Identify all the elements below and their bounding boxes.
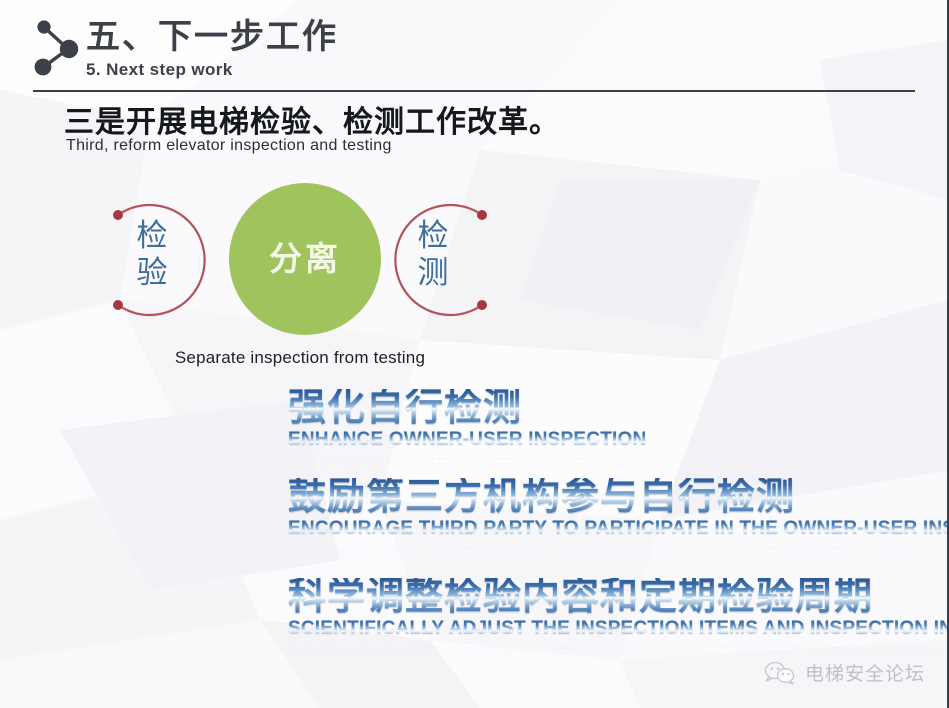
diagram-label-left: 检验 [122,217,182,291]
watermark-text: 电梯安全论坛 [805,659,925,686]
point-3: 科学调整检验内容和定期检验周期 SCIENTIFICALLY ADJUST TH… [288,578,949,663]
point-1: 强化自行检测 ENHANCE OWNER-USER INSPECTION ENH… [288,389,646,474]
header-title-cn: 五、下一步工作 [86,17,338,57]
header-divider-rule [33,90,915,92]
point-3-cn: 科学调整检验内容和定期检验周期 [288,578,949,616]
point-2-reflection: ENCOURAGE THIRD PARTY TO PARTICIPATE IN … [288,541,949,563]
diagram-label-center: 分离 [269,241,341,277]
point-1-cn: 强化自行检测 [288,389,646,427]
header-title-en: 5. Next step work [86,60,233,80]
separation-diagram: 检验 分离 检测 Separate inspection from testin… [95,180,505,380]
point-2-en: ENCOURAGE THIRD PARTY TO PARTICIPATE IN … [288,518,949,540]
point-2-cn: 鼓励第三方机构参与自行检测 [288,478,949,516]
network-node-icon [26,16,88,78]
section-heading-en: Third, reform elevator inspection and te… [66,137,392,155]
diagram-caption: Separate inspection from testing [95,348,505,368]
point-3-en: SCIENTIFICALLY ADJUST THE INSPECTION ITE… [288,618,949,640]
slide-canvas: 五、下一步工作 5. Next step work 三是开展电梯检验、检测工作改… [0,0,949,708]
section-heading-cn: 三是开展电梯检验、检测工作改革。 [64,97,560,141]
wechat-watermark: 电梯安全论坛 [764,659,925,686]
point-1-reflection: ENHANCE OWNER-USER INSPECTION [288,452,646,474]
point-2: 鼓励第三方机构参与自行检测 ENCOURAGE THIRD PARTY TO P… [288,478,949,563]
wechat-icon [764,661,796,685]
diagram-center-circle: 分离 [229,183,381,335]
slide-header: 五、下一步工作 5. Next step work [0,0,949,92]
point-1-en: ENHANCE OWNER-USER INSPECTION [288,429,646,451]
diagram-label-right: 检测 [403,217,463,291]
